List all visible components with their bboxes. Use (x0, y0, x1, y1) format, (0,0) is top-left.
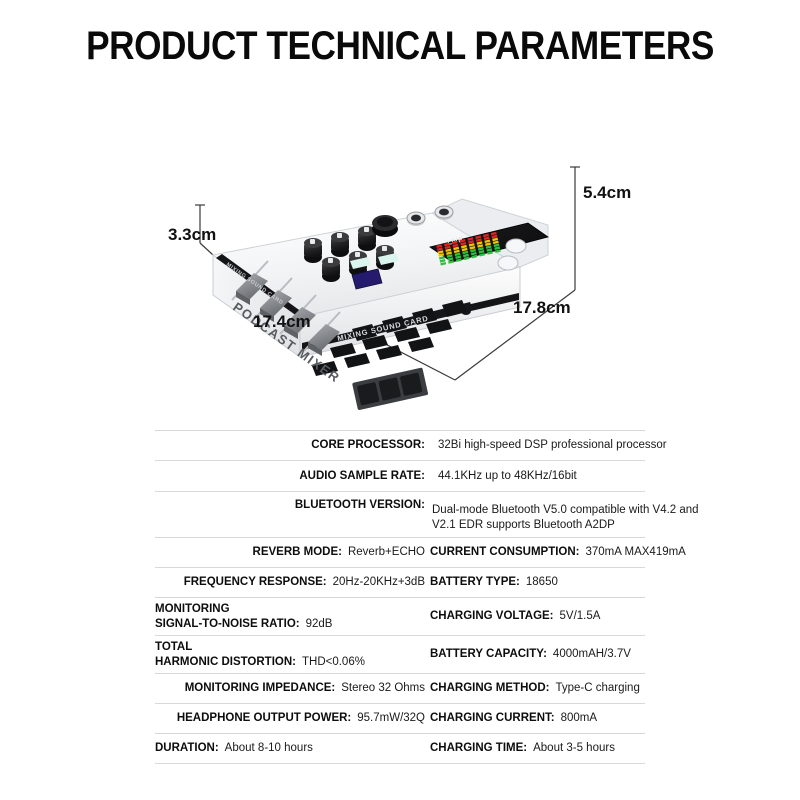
power-button[interactable] (506, 239, 526, 253)
spec-label: CHARGING VOLTAGE: (430, 609, 554, 623)
function-button[interactable] (408, 337, 434, 352)
bluetooth-button[interactable] (498, 256, 518, 270)
spec-label: REVERB MODE: (253, 545, 342, 559)
spec-value-line1: Dual-mode Bluetooth V5.0 compatible with… (432, 503, 699, 517)
front-port-bay (352, 367, 428, 410)
spec-value: Stereo 32 Ohms (341, 681, 425, 695)
spec-label: CHARGING TIME: (430, 741, 527, 755)
spec-label: AUDIO SAMPLE RATE: (299, 469, 425, 483)
dimension-label-depth: 17.8cm (513, 298, 571, 318)
spec-value: 20Hz-20KHz+3dB (333, 575, 425, 589)
spec-value: About 8-10 hours (225, 741, 313, 755)
master-knob[interactable] (372, 215, 398, 237)
product-illustration: LIVE (0, 95, 800, 415)
table-row: CORE PROCESSOR: 32Bi high-speed DSP prof… (155, 430, 645, 461)
spec-value: 5V/1.5A (560, 609, 601, 623)
spec-label: CORE PROCESSOR: (311, 438, 425, 452)
table-row: BLUETOOTH VERSION: Dual-mode Bluetooth V… (155, 492, 645, 538)
spec-label-line2: SIGNAL-TO-NOISE RATIO: (155, 617, 300, 631)
mixer-device: LIVE (213, 199, 548, 410)
table-row: HEADPHONE OUTPUT POWER: 95.7mW/32Q CHARG… (155, 704, 645, 734)
knob[interactable] (304, 238, 322, 263)
spec-value: THD<0.06% (302, 655, 365, 669)
spec-label: HEADPHONE OUTPUT POWER: (177, 711, 351, 725)
spec-value: 95.7mW/32Q (357, 711, 425, 725)
spec-value: 18650 (526, 575, 558, 589)
spec-label: DURATION: (155, 741, 219, 755)
spec-label: BLUETOOTH VERSION: (295, 498, 425, 512)
table-row: MONITORING SIGNAL-TO-NOISE RATIO: 92dB C… (155, 598, 645, 636)
spec-value: 800mA (561, 711, 597, 725)
xlr-jack[interactable] (435, 206, 453, 220)
spec-value-line2: V2.1 EDR supports Bluetooth A2DP (432, 518, 615, 532)
spec-value: About 3-5 hours (533, 741, 615, 755)
spec-label: BATTERY TYPE: (430, 575, 520, 589)
knob[interactable] (331, 232, 349, 257)
spec-label: BATTERY CAPACITY: (430, 647, 547, 661)
spec-label: CHARGING CURRENT: (430, 711, 555, 725)
product-hero: LIVE (0, 95, 800, 415)
function-button[interactable] (344, 353, 370, 368)
dimension-label-width: 17.4cm (253, 312, 311, 332)
table-row: REVERB MODE: Reverb+ECHO CURRENT CONSUMP… (155, 538, 645, 568)
page-title: PRODUCT TECHNICAL PARAMETERS (48, 24, 752, 69)
table-row: FREQUENCY RESPONSE: 20Hz-20KHz+3dB BATTE… (155, 568, 645, 598)
spec-label: FREQUENCY RESPONSE: (184, 575, 327, 589)
xlr-jack[interactable] (407, 212, 425, 226)
spec-label: MONITORING IMPEDANCE: (185, 681, 336, 695)
dimension-label-height-front: 3.3cm (168, 225, 216, 245)
spec-table: CORE PROCESSOR: 32Bi high-speed DSP prof… (155, 430, 645, 764)
spec-label-line1: TOTAL (155, 640, 192, 654)
spec-value: Type-C charging (555, 681, 639, 695)
spec-value: 92dB (306, 617, 333, 631)
spec-value: Reverb+ECHO (348, 545, 425, 559)
dimension-label-height-rear: 5.4cm (583, 183, 631, 203)
function-button[interactable] (376, 345, 402, 360)
spec-value: 44.1KHz up to 48KHz/16bit (438, 469, 577, 483)
table-row: MONITORING IMPEDANCE: Stereo 32 Ohms CHA… (155, 674, 645, 704)
spec-value: 32Bi high-speed DSP professional process… (438, 438, 667, 452)
table-row: DURATION: About 8-10 hours CHARGING TIME… (155, 734, 645, 764)
spec-value: 4000mAH/3.7V (553, 647, 631, 661)
spec-label-line1: MONITORING (155, 602, 230, 616)
spec-label: CHARGING METHOD: (430, 681, 549, 695)
knob[interactable] (322, 257, 340, 282)
spec-value: 370mA MAX419mA (586, 545, 686, 559)
spec-label: CURRENT CONSUMPTION: (430, 545, 580, 559)
spec-label-line2: HARMONIC DISTORTION: (155, 655, 296, 669)
table-row: AUDIO SAMPLE RATE: 44.1KHz up to 48KHz/1… (155, 461, 645, 492)
table-row: TOTAL HARMONIC DISTORTION: THD<0.06% BAT… (155, 636, 645, 674)
